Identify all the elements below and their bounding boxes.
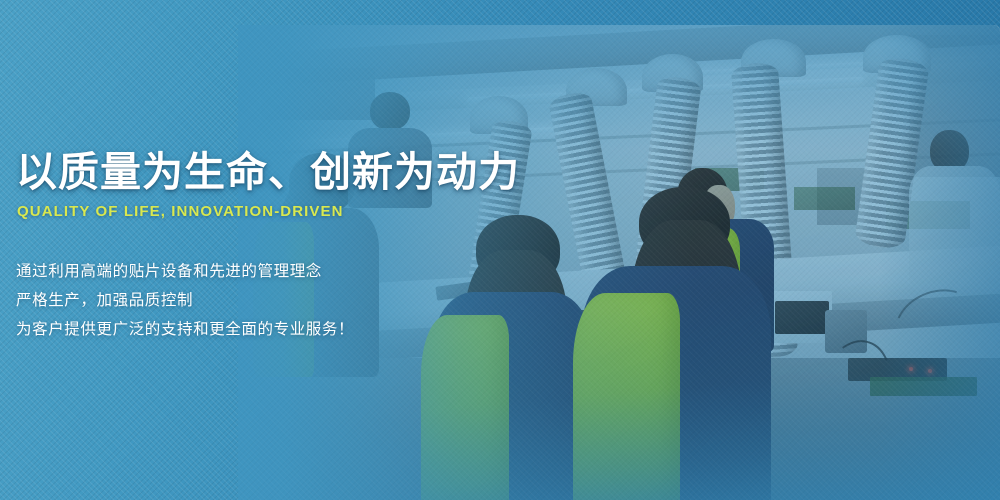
banner-body-line: 为客户提供更广泛的支持和更全面的专业服务！ [16,315,354,344]
promo-banner: 以质量为生命、创新为动力 QUALITY OF LIFE, INNOVATION… [0,0,1000,500]
banner-headline: 以质量为生命、创新为动力 [16,152,520,193]
banner-body-text: 通过利用高端的贴片设备和先进的管理理念 严格生产，加强品质控制 为客户提供更广泛… [16,257,354,344]
banner-body-line: 严格生产，加强品质控制 [16,286,354,315]
banner-content: 以质量为生命、创新为动力 QUALITY OF LIFE, INNOVATION… [0,0,1000,500]
banner-subheadline: QUALITY OF LIFE, INNOVATION-DRIVEN [17,203,344,220]
banner-body-line: 通过利用高端的贴片设备和先进的管理理念 [16,257,354,286]
